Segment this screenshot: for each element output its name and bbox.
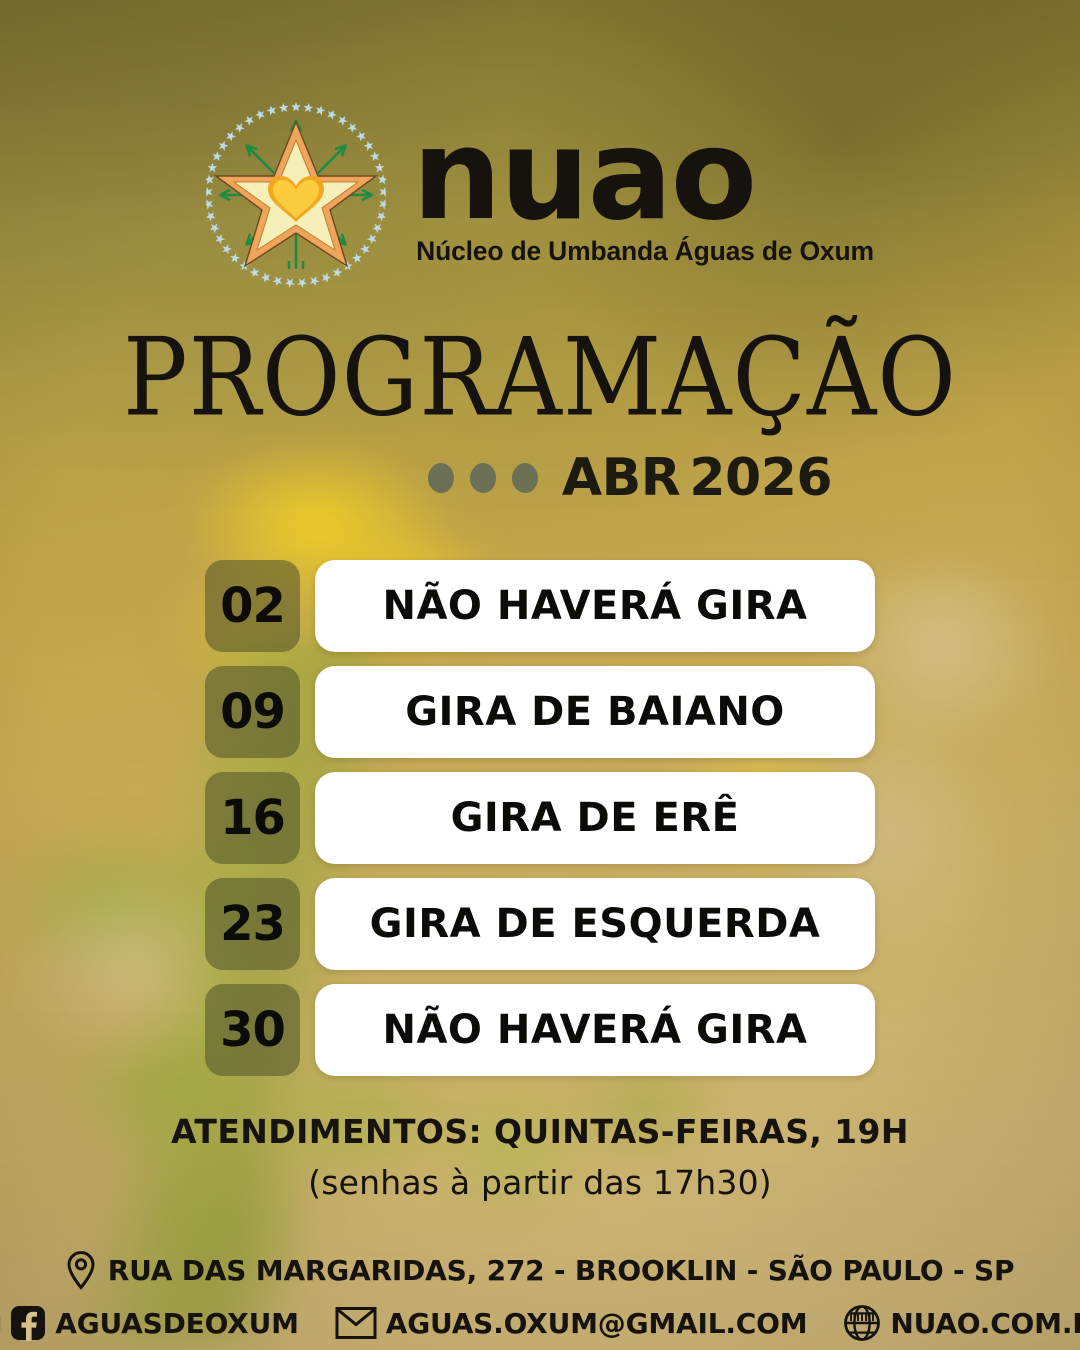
- event-bar: NÃO HAVERÁ GIRA: [315, 560, 875, 652]
- footer-address-line: RUA DAS MARGARIDAS, 272 - BROOKLIN - SÃO…: [0, 1250, 1080, 1290]
- date-badge: 16: [205, 772, 300, 864]
- event-label: NÃO HAVERÁ GIRA: [382, 1007, 807, 1053]
- event-bar: NÃO HAVERÁ GIRA: [315, 984, 875, 1076]
- service-note: (senhas à partir das 17h30): [0, 1163, 1080, 1202]
- page-title-block: PROGRAMAÇÃO ABR2026: [0, 324, 1080, 508]
- date-badge: 09: [205, 666, 300, 758]
- event-label: NÃO HAVERÁ GIRA: [382, 583, 807, 629]
- event-bar: GIRA DE ESQUERDA: [315, 878, 875, 970]
- brand-name: nuao: [412, 123, 755, 226]
- event-label: GIRA DE ERÊ: [451, 795, 740, 841]
- decorative-dot-3: [512, 463, 538, 493]
- address-text: RUA DAS MARGARIDAS, 272 - BROOKLIN - SÃO…: [108, 1254, 1015, 1287]
- event-label: GIRA DE ESQUERDA: [370, 901, 821, 947]
- month-label: ABR: [562, 448, 680, 508]
- programacao-poster: nuao Núcleo de Umbanda Águas de Oxum PRO…: [0, 0, 1080, 1350]
- footer-contacts: RUA DAS MARGARIDAS, 272 - BROOKLIN - SÃO…: [0, 1250, 1080, 1342]
- decorative-dot-2: [470, 463, 496, 493]
- event-bar: GIRA DE ERÊ: [315, 772, 875, 864]
- date-badge: 23: [205, 878, 300, 970]
- instagram-icon[interactable]: [0, 1305, 1, 1341]
- title-month-row: ABR2026: [0, 448, 1080, 508]
- schedule-row: 16 GIRA DE ERÊ: [205, 772, 1080, 864]
- footer-social-line: AGUASDEOXUM AGUAS.OXUM@GMAIL.COM: [0, 1304, 1080, 1342]
- schedule-row: 30 NÃO HAVERÁ GIRA: [205, 984, 1080, 1076]
- website-group[interactable]: NUAO.COM.BR: [843, 1304, 1080, 1342]
- decorative-dot-1: [428, 463, 454, 493]
- brand-header: nuao Núcleo de Umbanda Águas de Oxum: [0, 0, 1080, 290]
- schedule-row: 02 NÃO HAVERÁ GIRA: [205, 560, 1080, 652]
- social-group[interactable]: AGUASDEOXUM: [0, 1305, 299, 1341]
- email-text: AGUAS.OXUM@GMAIL.COM: [386, 1307, 808, 1340]
- globe-icon[interactable]: [843, 1304, 881, 1342]
- month-year-label: ABR2026: [562, 448, 832, 508]
- nuao-star-heart-logo-icon: [206, 100, 386, 290]
- facebook-icon[interactable]: [10, 1305, 46, 1341]
- website-text: NUAO.COM.BR: [890, 1307, 1080, 1340]
- date-badge: 30: [205, 984, 300, 1076]
- event-bar: GIRA DE BAIANO: [315, 666, 875, 758]
- envelope-icon[interactable]: [335, 1306, 377, 1340]
- email-group[interactable]: AGUAS.OXUM@GMAIL.COM: [335, 1306, 808, 1340]
- date-badge: 02: [205, 560, 300, 652]
- year-label: 2026: [689, 448, 832, 508]
- service-info: ATENDIMENTOS: QUINTAS-FEIRAS, 19H (senha…: [0, 1112, 1080, 1202]
- brand-tagline: Núcleo de Umbanda Águas de Oxum: [416, 236, 874, 267]
- location-pin-icon: [66, 1250, 96, 1290]
- page-title: PROGRAMAÇÃO: [0, 324, 1080, 432]
- schedule-row: 23 GIRA DE ESQUERDA: [205, 878, 1080, 970]
- service-hours: ATENDIMENTOS: QUINTAS-FEIRAS, 19H: [0, 1112, 1080, 1151]
- social-handle-text: AGUASDEOXUM: [55, 1307, 299, 1340]
- schedule-list: 02 NÃO HAVERÁ GIRA 09 GIRA DE BAIANO 16 …: [0, 560, 1080, 1076]
- schedule-row: 09 GIRA DE BAIANO: [205, 666, 1080, 758]
- event-label: GIRA DE BAIANO: [405, 689, 785, 735]
